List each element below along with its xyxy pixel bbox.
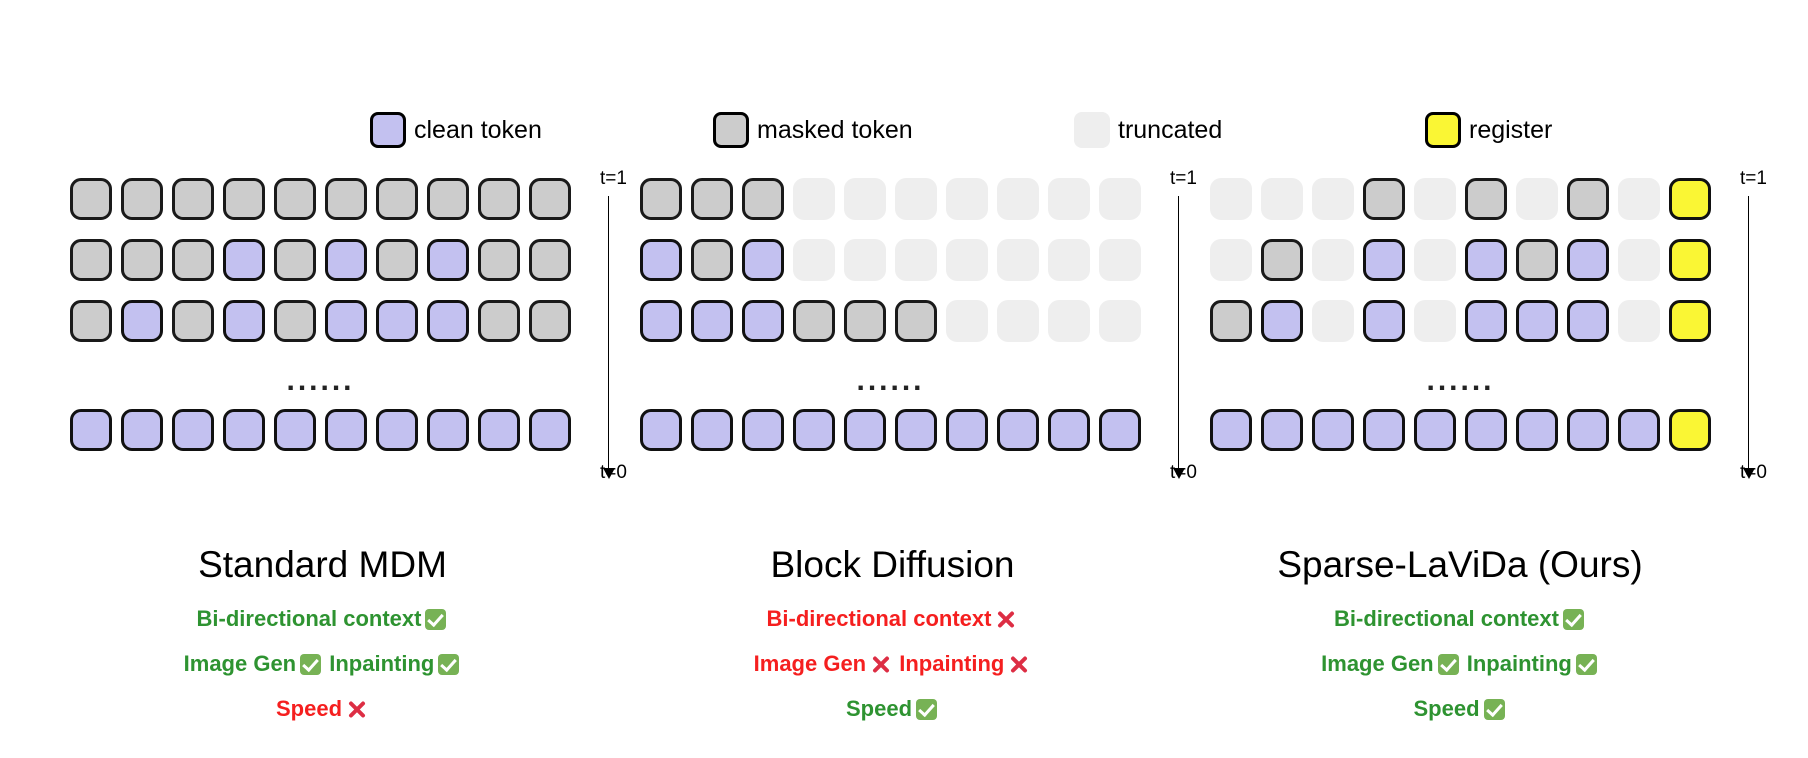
token-clean <box>1465 239 1507 281</box>
token-clean <box>640 300 682 342</box>
legend-label: register <box>1469 118 1552 143</box>
token-clean <box>742 409 784 451</box>
token-register <box>1669 178 1711 220</box>
token-clean <box>1465 409 1507 451</box>
token-clean <box>223 239 265 281</box>
token-clean <box>223 300 265 342</box>
token-truncated <box>1618 178 1660 220</box>
token-clean <box>529 409 571 451</box>
token-clean <box>325 239 367 281</box>
ellipsis-text: ...... <box>1210 361 1711 401</box>
axis-label-bottom: t=0 <box>1740 462 1767 484</box>
token-clean <box>325 300 367 342</box>
token-truncated <box>946 178 988 220</box>
token-grid: ...... <box>70 178 571 451</box>
check-icon <box>438 654 459 675</box>
token-row <box>70 300 571 342</box>
token-clean <box>1363 239 1405 281</box>
feature-item: Bi-directional context <box>640 608 1145 630</box>
feature-label: Bi-directional context <box>767 606 992 631</box>
token-clean <box>640 409 682 451</box>
cross-icon <box>1008 654 1029 675</box>
token-row <box>640 300 1141 342</box>
legend-label: truncated <box>1118 118 1222 143</box>
feature-label: Bi-directional context <box>1334 606 1559 631</box>
token-clean <box>121 300 163 342</box>
token-register <box>1669 239 1711 281</box>
token-truncated <box>997 239 1039 281</box>
feature-label: Inpainting <box>899 651 1004 676</box>
check-icon <box>1484 699 1505 720</box>
token-truncated <box>1414 300 1456 342</box>
feature-item: Speed <box>70 698 575 720</box>
token-clean <box>691 300 733 342</box>
feature-label: Speed <box>846 696 912 721</box>
token-clean <box>691 409 733 451</box>
token-truncated <box>1618 239 1660 281</box>
token-grid: ...... <box>640 178 1141 451</box>
token-truncated <box>946 239 988 281</box>
token-row <box>1210 409 1711 451</box>
cross-icon <box>870 654 891 675</box>
figure-root: clean tokenmasked tokentruncatedregister… <box>0 0 1808 758</box>
check-icon <box>425 609 446 630</box>
token-row <box>1210 239 1711 281</box>
feature-label: Speed <box>1413 696 1479 721</box>
token-truncated <box>895 178 937 220</box>
token-masked <box>478 300 520 342</box>
token-clean <box>1618 409 1660 451</box>
token-masked <box>70 239 112 281</box>
token-clean <box>1363 300 1405 342</box>
token-masked <box>274 300 316 342</box>
token-truncated <box>895 239 937 281</box>
token-truncated <box>1210 178 1252 220</box>
feature-list-block-diffusion: Bi-directional contextImage Gen Inpainti… <box>640 608 1145 743</box>
feature-label: Image Gen <box>1321 651 1433 676</box>
token-truncated <box>1099 239 1141 281</box>
token-clean <box>895 409 937 451</box>
feature-item: Bi-directional context <box>1180 608 1740 630</box>
token-truncated <box>844 239 886 281</box>
token-truncated <box>1312 300 1354 342</box>
token-truncated <box>946 300 988 342</box>
token-masked <box>274 239 316 281</box>
token-row <box>70 178 571 220</box>
token-masked <box>172 239 214 281</box>
legend-label: clean token <box>414 118 542 143</box>
panel-sparse-lavida: ...... <box>1210 178 1711 470</box>
axis-line <box>608 196 609 474</box>
token-clean <box>70 409 112 451</box>
token-clean <box>1210 409 1252 451</box>
token-clean <box>1567 409 1609 451</box>
token-clean <box>1099 409 1141 451</box>
token-clean <box>1363 409 1405 451</box>
token-masked <box>121 178 163 220</box>
legend-item-clean-token: clean token <box>370 108 542 152</box>
token-masked <box>1363 178 1405 220</box>
legend-item-register: register <box>1425 108 1552 152</box>
token-masked <box>691 239 733 281</box>
feature-label: Image Gen <box>754 651 866 676</box>
legend: clean tokenmasked tokentruncatedregister <box>0 108 1808 152</box>
token-row <box>640 409 1141 451</box>
token-masked <box>640 178 682 220</box>
token-masked <box>793 300 835 342</box>
token-masked <box>478 178 520 220</box>
feature-item: Speed <box>640 698 1145 720</box>
axis-label-bottom: t=0 <box>600 462 627 484</box>
token-grid: ...... <box>1210 178 1711 451</box>
token-row <box>70 409 571 451</box>
token-register <box>1669 300 1711 342</box>
ellipsis-text: ...... <box>640 361 1141 401</box>
token-masked <box>529 178 571 220</box>
token-clean <box>427 409 469 451</box>
token-clean <box>742 239 784 281</box>
token-clean <box>121 409 163 451</box>
panel-title-block-diffusion: Block Diffusion <box>640 545 1145 586</box>
token-truncated <box>844 178 886 220</box>
token-truncated <box>1414 239 1456 281</box>
check-icon <box>300 654 321 675</box>
token-clean <box>172 409 214 451</box>
feature-label: Inpainting <box>329 651 434 676</box>
token-clean <box>1567 300 1609 342</box>
panel-block-diffusion: ...... <box>640 178 1141 470</box>
token-clean <box>1261 300 1303 342</box>
clean-token-swatch-icon <box>370 112 406 148</box>
token-clean <box>742 300 784 342</box>
token-truncated <box>1618 300 1660 342</box>
token-truncated <box>1414 178 1456 220</box>
token-clean <box>274 409 316 451</box>
token-truncated <box>1261 178 1303 220</box>
token-clean <box>478 409 520 451</box>
token-masked <box>70 300 112 342</box>
token-clean <box>376 300 418 342</box>
token-clean <box>223 409 265 451</box>
token-row <box>70 239 571 281</box>
axis-label-bottom: t=0 <box>1170 462 1197 484</box>
token-truncated <box>997 178 1039 220</box>
token-truncated <box>1516 178 1558 220</box>
token-masked <box>895 300 937 342</box>
check-icon <box>1438 654 1459 675</box>
token-masked <box>844 300 886 342</box>
axis-label-top: t=1 <box>600 168 627 190</box>
truncated-swatch-icon <box>1074 112 1110 148</box>
feature-label: Inpainting <box>1467 651 1572 676</box>
token-masked <box>427 178 469 220</box>
feature-list-sparse-lavida: Bi-directional contextImage Gen Inpainti… <box>1180 608 1740 743</box>
axis-line <box>1748 196 1749 474</box>
feature-item: Image Gen Inpainting <box>1180 653 1740 675</box>
token-truncated <box>1048 300 1090 342</box>
token-clean <box>1414 409 1456 451</box>
feature-item: Image Gen Inpainting <box>640 653 1145 675</box>
token-masked <box>223 178 265 220</box>
token-truncated <box>1099 178 1141 220</box>
token-truncated <box>1099 300 1141 342</box>
panel-title-standard-mdm: Standard MDM <box>70 545 575 586</box>
token-clean <box>640 239 682 281</box>
check-icon <box>1563 609 1584 630</box>
feature-list-standard-mdm: Bi-directional contextImage Gen Inpainti… <box>70 608 575 743</box>
token-truncated <box>997 300 1039 342</box>
token-masked <box>1465 178 1507 220</box>
cross-icon <box>346 699 367 720</box>
token-clean <box>1261 409 1303 451</box>
token-masked <box>529 239 571 281</box>
token-row <box>640 239 1141 281</box>
token-truncated <box>1210 239 1252 281</box>
token-truncated <box>793 239 835 281</box>
check-icon <box>1576 654 1597 675</box>
token-clean <box>1516 300 1558 342</box>
token-masked <box>1516 239 1558 281</box>
legend-label: masked token <box>757 118 913 143</box>
feature-item: Speed <box>1180 698 1740 720</box>
token-masked <box>529 300 571 342</box>
panel-standard-mdm: ...... <box>70 178 571 470</box>
token-masked <box>1210 300 1252 342</box>
token-masked <box>121 239 163 281</box>
token-masked <box>1567 178 1609 220</box>
token-masked <box>1261 239 1303 281</box>
token-clean <box>1516 409 1558 451</box>
token-truncated <box>1048 239 1090 281</box>
token-row <box>1210 178 1711 220</box>
token-masked <box>70 178 112 220</box>
token-clean <box>1465 300 1507 342</box>
legend-item-masked-token: masked token <box>713 108 913 152</box>
ellipsis-text: ...... <box>70 361 571 401</box>
feature-label: Speed <box>276 696 342 721</box>
token-masked <box>376 239 418 281</box>
token-row <box>640 178 1141 220</box>
token-masked <box>172 178 214 220</box>
token-clean <box>1567 239 1609 281</box>
legend-item-truncated: truncated <box>1074 108 1222 152</box>
feature-label: Image Gen <box>184 651 296 676</box>
token-register <box>1669 409 1711 451</box>
token-truncated <box>793 178 835 220</box>
token-clean <box>427 300 469 342</box>
panel-title-sparse-lavida: Sparse-LaViDa (Ours) <box>1180 545 1740 586</box>
token-clean <box>1048 409 1090 451</box>
token-masked <box>172 300 214 342</box>
token-masked <box>691 178 733 220</box>
token-clean <box>1312 409 1354 451</box>
token-masked <box>274 178 316 220</box>
masked-token-swatch-icon <box>713 112 749 148</box>
check-icon <box>916 699 937 720</box>
token-clean <box>793 409 835 451</box>
token-clean <box>844 409 886 451</box>
feature-label: Bi-directional context <box>197 606 422 631</box>
token-clean <box>325 409 367 451</box>
token-clean <box>997 409 1039 451</box>
token-truncated <box>1312 239 1354 281</box>
token-masked <box>325 178 367 220</box>
token-clean <box>946 409 988 451</box>
axis-label-top: t=1 <box>1170 168 1197 190</box>
axis-line <box>1178 196 1179 474</box>
feature-item: Image Gen Inpainting <box>70 653 575 675</box>
token-masked <box>376 178 418 220</box>
register-swatch-icon <box>1425 112 1461 148</box>
token-masked <box>478 239 520 281</box>
token-clean <box>376 409 418 451</box>
token-truncated <box>1312 178 1354 220</box>
feature-item: Bi-directional context <box>70 608 575 630</box>
token-truncated <box>1048 178 1090 220</box>
token-row <box>1210 300 1711 342</box>
cross-icon <box>995 609 1016 630</box>
axis-label-top: t=1 <box>1740 168 1767 190</box>
token-masked <box>742 178 784 220</box>
token-clean <box>427 239 469 281</box>
